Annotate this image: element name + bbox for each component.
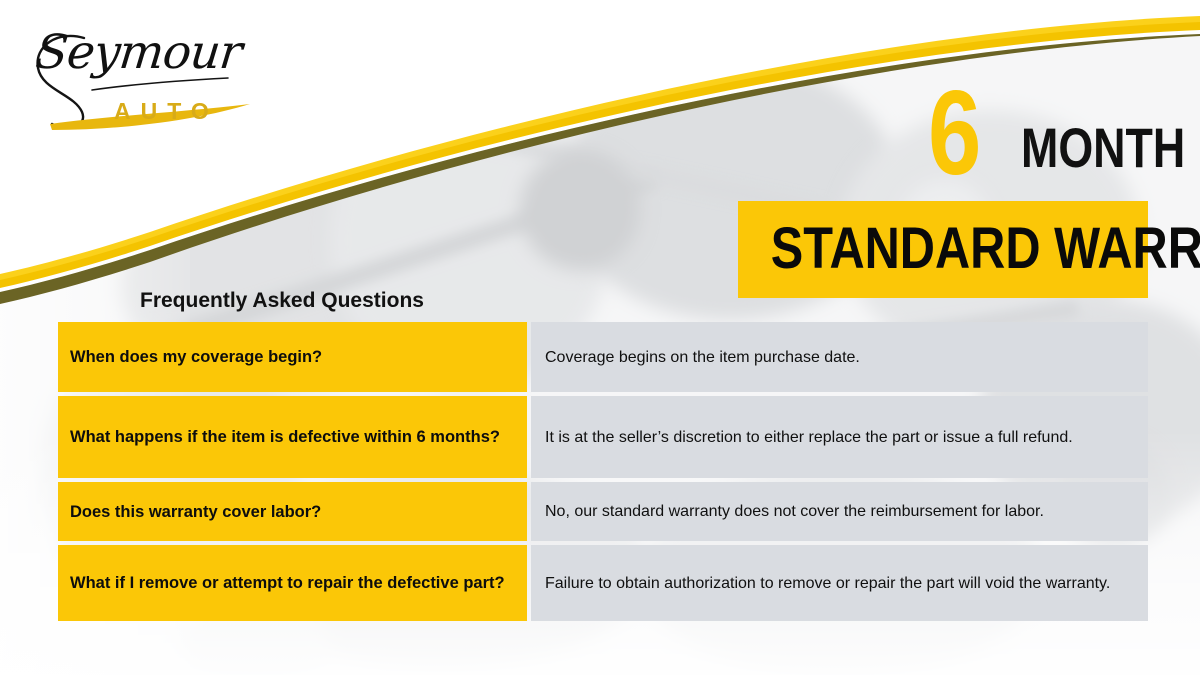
faq-answer-text: Failure to obtain authorization to remov… [545, 572, 1136, 595]
faq-answer-cell: Coverage begins on the item purchase dat… [531, 322, 1148, 392]
table-row: What if I remove or attempt to repair th… [58, 545, 1148, 621]
warranty-slide: Seymour AUTO 6 MONTH STANDARD WARRANTY F… [0, 0, 1200, 675]
faq-answer-text: Coverage begins on the item purchase dat… [545, 346, 1136, 369]
faq-question-text: Does this warranty cover labor? [70, 501, 321, 523]
warranty-duration-unit: MONTH [1021, 120, 1185, 176]
faq-answer-cell: It is at the seller’s discretion to eith… [531, 396, 1148, 478]
warranty-duration-number: 6 [928, 78, 980, 188]
banner-title: STANDARD WARRANTY [771, 218, 1115, 280]
standard-warranty-banner: STANDARD WARRANTY [738, 201, 1148, 298]
faq-question-cell: What if I remove or attempt to repair th… [58, 545, 527, 621]
faq-question-cell: When does my coverage begin? [58, 322, 527, 392]
faq-question-cell: Does this warranty cover labor? [58, 482, 527, 541]
faq-question-text: What happens if the item is defective wi… [70, 426, 500, 448]
faq-question-text: When does my coverage begin? [70, 346, 322, 368]
logo-wordmark: Seymour [33, 25, 244, 80]
faq-question-cell: What happens if the item is defective wi… [58, 396, 527, 478]
faq-table: When does my coverage begin? Coverage be… [58, 322, 1148, 621]
table-row: What happens if the item is defective wi… [58, 396, 1148, 478]
logo-subtext: AUTO [114, 98, 219, 125]
faq-question-text: What if I remove or attempt to repair th… [70, 572, 505, 594]
faq-answer-text: No, our standard warranty does not cover… [545, 500, 1136, 523]
seymour-auto-logo: Seymour AUTO [22, 20, 257, 135]
table-row: Does this warranty cover labor? No, our … [58, 482, 1148, 541]
faq-answer-cell: No, our standard warranty does not cover… [531, 482, 1148, 541]
faq-heading: Frequently Asked Questions [140, 289, 424, 313]
faq-answer-cell: Failure to obtain authorization to remov… [531, 545, 1148, 621]
table-row: When does my coverage begin? Coverage be… [58, 322, 1148, 392]
faq-answer-text: It is at the seller’s discretion to eith… [545, 426, 1136, 449]
